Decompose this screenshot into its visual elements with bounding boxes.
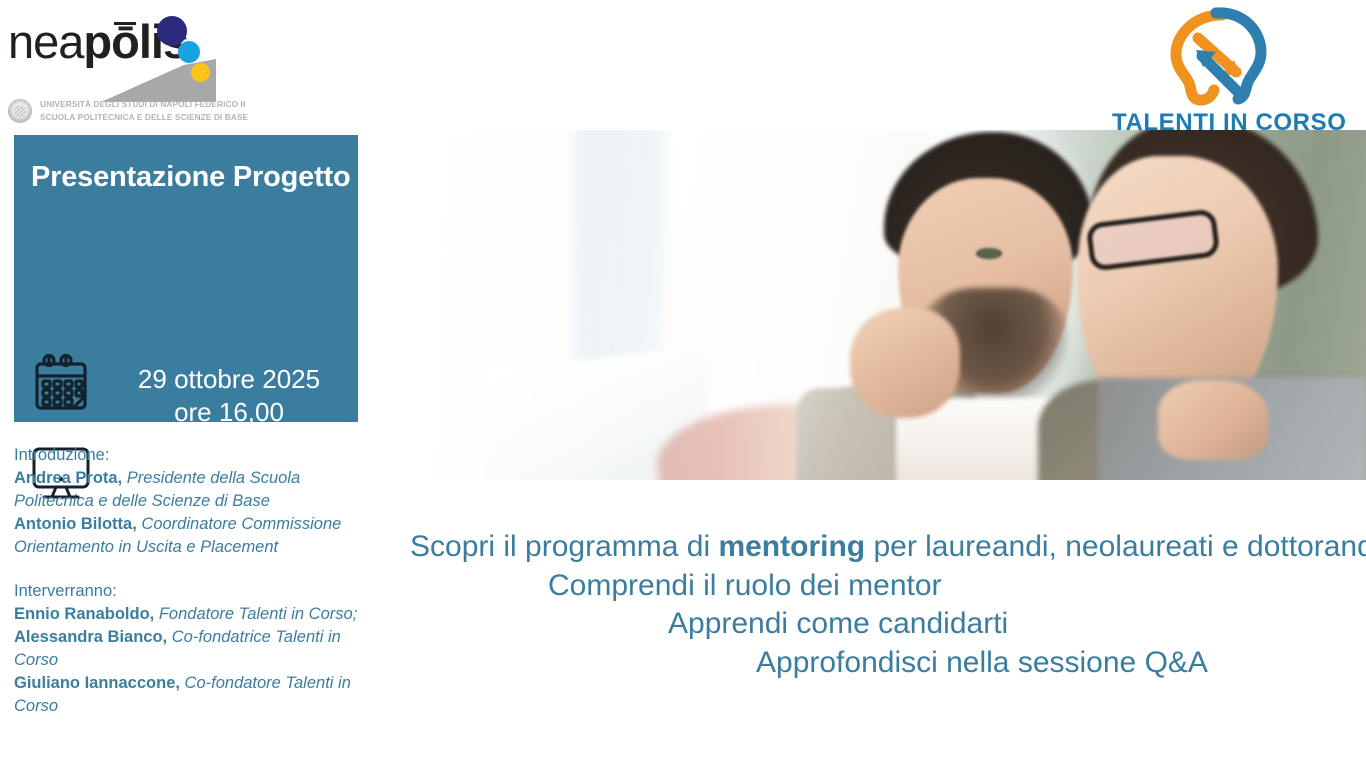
intro-person-0: Andrea Prota, Presidente della Scuola Po… <box>14 467 364 513</box>
neapolis-word-macron: ō <box>111 18 139 65</box>
neapolis-logo: neapōlis <box>8 10 218 90</box>
event-info-card: Presentazione Progetto <box>14 135 358 422</box>
intro-person-0-name: Andrea Prota <box>14 469 118 487</box>
tagline-line-1-post: per laureandi, neolaureati e dottorandi <box>865 530 1366 563</box>
neapolis-word-part2: p <box>83 15 111 68</box>
event-title: Presentazione Progetto <box>31 161 351 194</box>
speaker-0-name: Ennio Ranaboldo <box>14 605 150 623</box>
poster-canvas: neapōlis UNIVERSITÀ DEGLI STUDI DI NAPOL… <box>0 0 1366 768</box>
tagline-line-1: Scopri il programma di mentoring per lau… <box>398 528 1366 567</box>
tagline-line-1-strong: mentoring <box>718 530 865 563</box>
neapolis-dot-cyan-icon <box>178 41 200 63</box>
intro-person-1: Antonio Bilotta, Coordinatore Commission… <box>14 513 364 559</box>
university-name-block: UNIVERSITÀ DEGLI STUDI DI NAPOLI FEDERIC… <box>40 98 248 124</box>
university-lockup: UNIVERSITÀ DEGLI STUDI DI NAPOLI FEDERIC… <box>8 98 238 126</box>
intro-person-0-sep: , <box>118 469 127 487</box>
neapolis-dot-yellow-icon <box>191 63 210 82</box>
photo-light-overlay <box>398 130 1366 480</box>
tagline-block: Scopri il programma di mentoring per lau… <box>398 528 1366 682</box>
intro-person-1-name: Antonio Bilotta, <box>14 515 137 533</box>
speaker-0: Ennio Ranaboldo, Fondatore Talenti in Co… <box>14 603 364 626</box>
intro-heading: Introduzione: <box>14 444 364 467</box>
speakers-section: Introduzione: Andrea Prota, Presidente d… <box>14 444 364 718</box>
speaker-2: Giuliano Iannaccone, Co-fondatore Talent… <box>14 672 364 718</box>
event-time: ore 16,00 <box>104 396 354 429</box>
speakers-divider <box>14 559 364 580</box>
university-line-2: SCUOLA POLITECNICA E DELLE SCIENZE DI BA… <box>40 111 248 124</box>
calendar-icon <box>32 354 94 416</box>
hero-photo <box>398 130 1366 480</box>
talenti-in-corso-logo: TALENTI IN CORSO <box>1112 4 1332 139</box>
speakers-heading: Interverranno: <box>14 580 364 603</box>
university-seal-icon <box>8 99 32 123</box>
neapolis-word-part1: nea <box>8 15 83 68</box>
speaker-1-name: Alessandra Bianco, <box>14 628 167 646</box>
speaker-2-sep: , <box>175 674 184 692</box>
speaker-0-sep: , <box>150 605 159 623</box>
tagline-line-1-pre: Scopri il programma di <box>410 530 718 563</box>
speaker-1: Alessandra Bianco, Co-fondatrice Talenti… <box>14 626 364 672</box>
event-date: 29 ottobre 2025 <box>104 363 354 396</box>
tagline-line-4: Approfondisci nella sessione Q&A <box>398 644 1366 683</box>
lightbulb-arrows-icon <box>1160 4 1278 109</box>
speaker-0-role: Fondatore Talenti in Corso; <box>159 605 357 623</box>
speaker-2-name: Giuliano Iannaccone <box>14 674 175 692</box>
university-line-1: UNIVERSITÀ DEGLI STUDI DI NAPOLI FEDERIC… <box>40 98 248 111</box>
tagline-line-2: Comprendi il ruolo dei mentor <box>398 567 1366 606</box>
event-date-block: 29 ottobre 2025 ore 16,00 <box>104 363 354 429</box>
tagline-line-3: Apprendi come candidarti <box>398 605 1366 644</box>
